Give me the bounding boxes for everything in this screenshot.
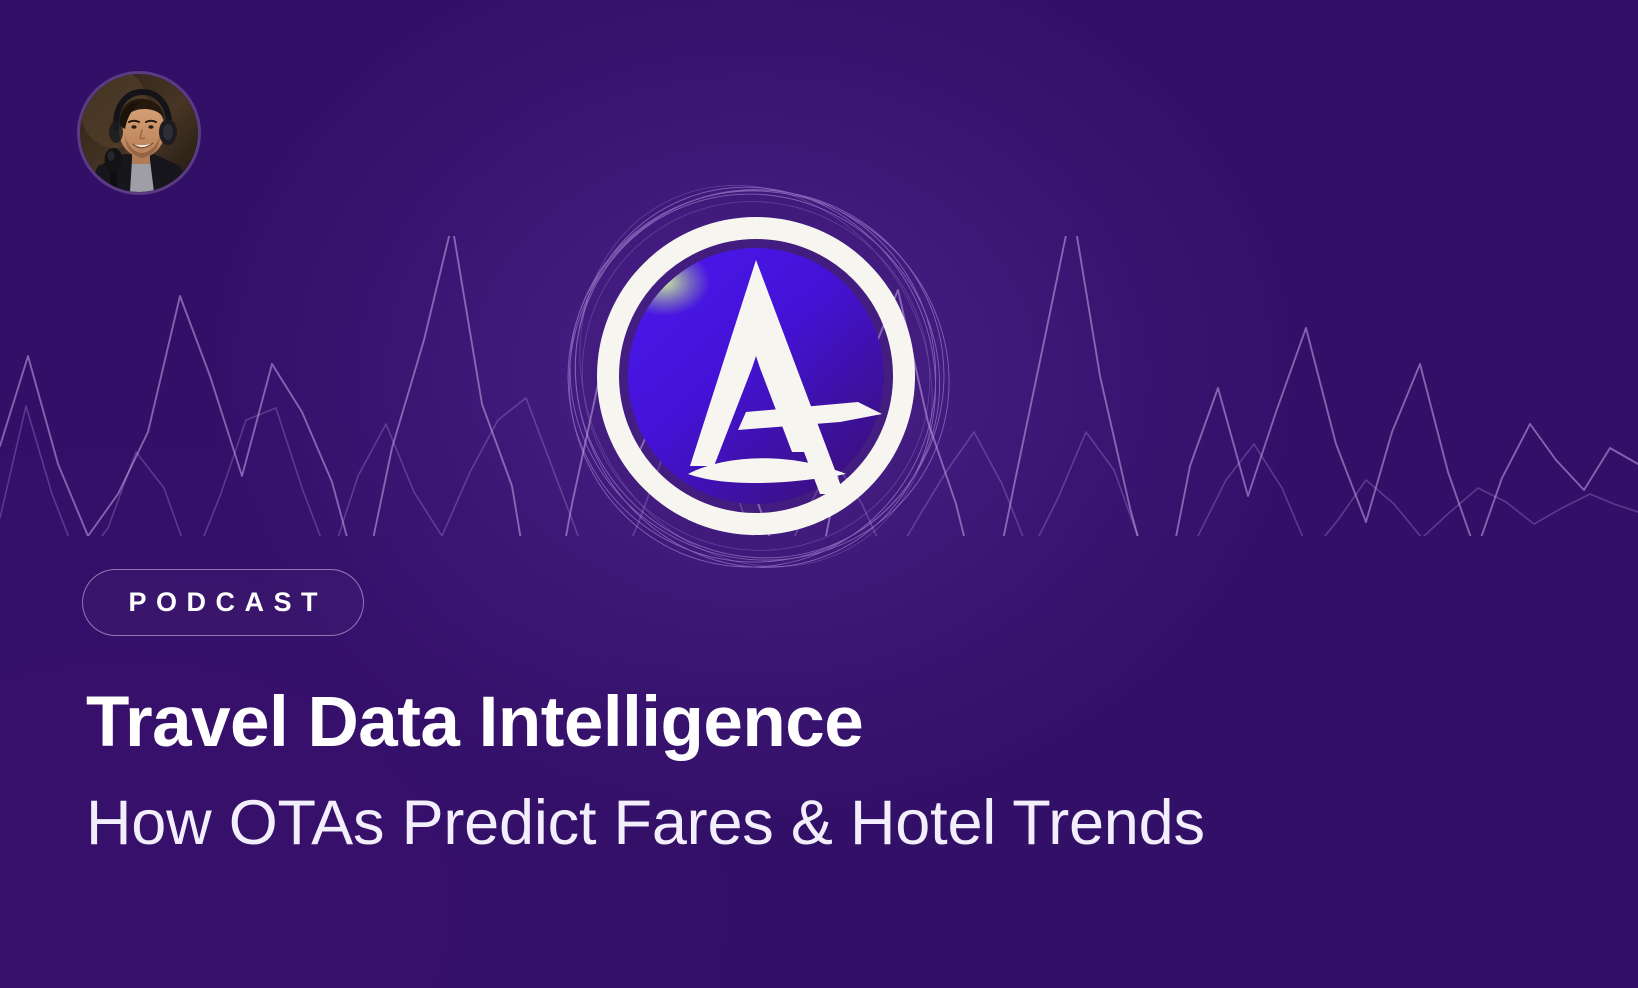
podcast-badge-label: PODCAST — [119, 589, 327, 616]
logo-a-mark — [556, 176, 956, 576]
episode-title: Travel Data Intelligence — [86, 686, 863, 761]
logo-disc — [596, 216, 916, 536]
host-avatar — [80, 74, 198, 192]
avatar-photo — [80, 74, 198, 192]
podcast-badge: PODCAST — [82, 569, 364, 636]
episode-subtitle: How OTAs Predict Fares & Hotel Trends — [86, 789, 1205, 857]
podcast-cover: PODCAST Travel Data Intelligence How OTA… — [0, 0, 1638, 988]
